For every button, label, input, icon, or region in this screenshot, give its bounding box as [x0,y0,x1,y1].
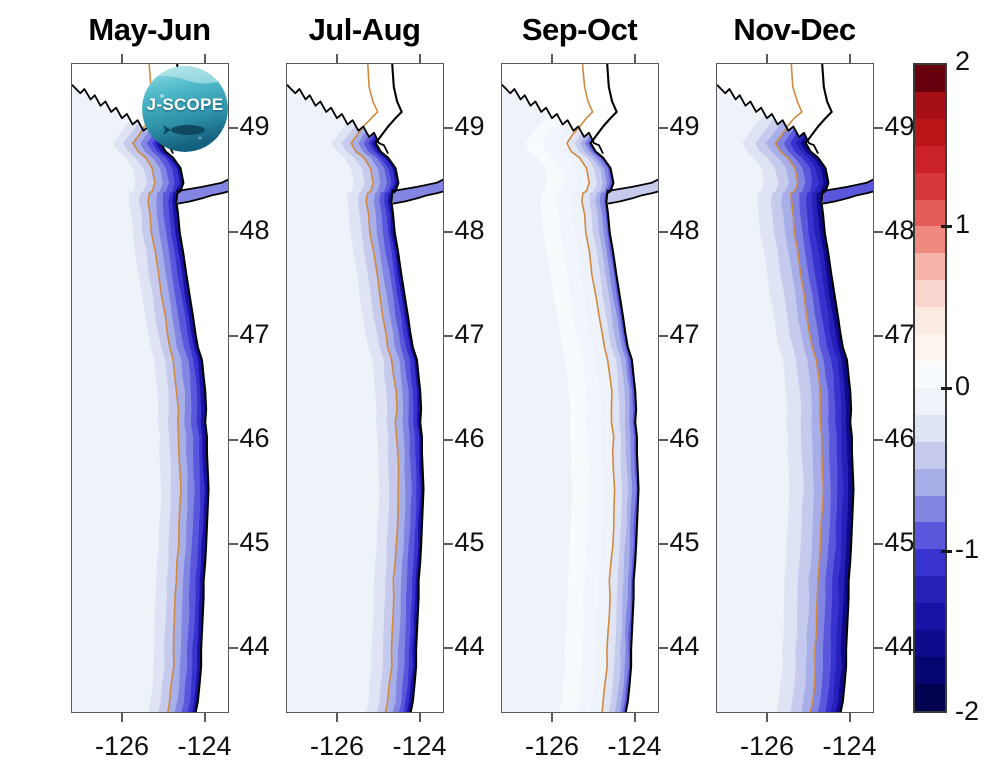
y-tick-mark [874,647,883,649]
x-tick-label-2-1: -124 [585,731,685,762]
colorbar-band-12 [915,388,945,415]
colorbar-band-9 [915,307,945,334]
map-surface [287,64,443,712]
y-tick-mark [229,543,238,545]
y-tick-mark [444,335,453,337]
panel-title-2: Sep-Oct [467,12,693,48]
y-tick-label-3-0: 49 [885,111,915,142]
x-tick-mark [551,713,553,722]
y-tick-label-3-4: 45 [885,527,915,558]
x-tick-mark [419,713,421,722]
y-tick-label-0-4: 45 [240,527,270,558]
colorbar-band-23 [915,684,945,711]
y-tick-label-2-2: 47 [670,319,700,350]
colorbar-tick-label-2: 0 [955,371,970,402]
y-tick-label-1-5: 44 [455,631,485,662]
y-tick-label-1-0: 49 [455,111,485,142]
map-surface [72,64,228,712]
x-tick-mark-top [766,54,768,63]
colorbar-tick-label-4: -2 [955,696,979,727]
y-tick-mark [874,439,883,441]
y-tick-mark [444,231,453,233]
colorbar-band-22 [915,657,945,684]
x-tick-mark-top [551,54,553,63]
y-tick-mark [659,439,668,441]
y-tick-mark [874,127,883,129]
colorbar-band-18 [915,549,945,576]
colorbar-band-10 [915,334,945,361]
colorbar-band-20 [915,603,945,630]
colorbar-band-17 [915,522,945,549]
colorbar-band-5 [915,200,945,227]
y-tick-mark [874,335,883,337]
y-tick-label-2-3: 46 [670,423,700,454]
y-tick-label-0-3: 46 [240,423,270,454]
y-tick-label-3-3: 46 [885,423,915,454]
x-tick-label-0-1: -124 [155,731,255,762]
y-tick-mark [444,439,453,441]
colorbar-tick-label-3: -1 [955,534,979,565]
colorbar-band-21 [915,630,945,657]
y-tick-label-1-1: 48 [455,215,485,246]
y-tick-mark [444,647,453,649]
anomaly-field [717,64,873,712]
colorbar-tick-mark-3 [941,550,952,553]
panel-title-0: May-Jun [37,12,263,48]
map-panel-1[interactable] [286,63,444,713]
x-tick-mark [766,713,768,722]
anomaly-field [287,64,443,712]
colorbar-band-14 [915,442,945,469]
colorbar-band-8 [915,280,945,307]
x-tick-mark [634,713,636,722]
colorbar-band-13 [915,415,945,442]
y-tick-mark [229,231,238,233]
x-tick-mark [121,713,123,722]
y-tick-mark [229,127,238,129]
y-tick-mark [659,231,668,233]
map-panel-0[interactable] [71,63,229,713]
y-tick-label-2-5: 44 [670,631,700,662]
y-tick-label-3-5: 44 [885,631,915,662]
x-tick-mark [849,713,851,722]
y-tick-label-0-2: 47 [240,319,270,350]
map-surface [717,64,873,712]
y-tick-mark [229,647,238,649]
j-scope-logo: J-SCOPE [142,66,228,152]
colorbar-tick-mark-1 [941,225,952,228]
x-tick-mark-top [849,54,851,63]
map-surface [502,64,658,712]
x-tick-mark [204,713,206,722]
x-tick-label-1-1: -124 [370,731,470,762]
x-tick-mark-top [204,54,206,63]
x-tick-label-3-1: -124 [800,731,900,762]
colorbar-band-2 [915,119,945,146]
y-tick-mark [229,439,238,441]
colorbar-band-0 [915,65,945,92]
y-tick-mark [444,127,453,129]
y-tick-label-1-3: 46 [455,423,485,454]
panel-title-1: Jul-Aug [252,12,478,48]
x-tick-mark-top [419,54,421,63]
x-tick-mark-top [336,54,338,63]
colorbar-band-4 [915,173,945,200]
colorbar-tick-mark-2 [941,387,952,390]
logo-text: J-SCOPE [142,95,228,115]
colorbar-tick-label-1: 1 [955,209,970,240]
y-tick-label-0-5: 44 [240,631,270,662]
y-tick-mark [229,335,238,337]
colorbar-band-3 [915,146,945,173]
y-tick-label-2-1: 48 [670,215,700,246]
x-tick-mark-top [121,54,123,63]
anomaly-field [72,64,228,712]
y-tick-mark [659,127,668,129]
y-tick-label-3-1: 48 [885,215,915,246]
colorbar-band-7 [915,253,945,280]
y-tick-mark [444,543,453,545]
x-tick-mark [336,713,338,722]
y-tick-label-1-4: 45 [455,527,485,558]
map-panel-3[interactable] [716,63,874,713]
colorbar-band-1 [915,92,945,119]
colorbar-band-15 [915,469,945,496]
y-tick-label-2-0: 49 [670,111,700,142]
anomaly-field [502,64,658,712]
y-tick-label-0-1: 48 [240,215,270,246]
y-tick-label-0-0: 49 [240,111,270,142]
colorbar-band-19 [915,576,945,603]
figure-canvas: May-JunJul-AugSep-OctNov-Dec494847464544… [0,0,1000,784]
colorbar-tick-label-0: 2 [955,46,970,77]
colorbar-band-6 [915,226,945,253]
colorbar-band-11 [915,361,945,388]
y-tick-mark [874,231,883,233]
y-tick-mark [659,543,668,545]
map-panel-2[interactable] [501,63,659,713]
y-tick-mark [659,335,668,337]
y-tick-label-1-2: 47 [455,319,485,350]
panel-title-3: Nov-Dec [682,12,908,48]
y-tick-label-3-2: 47 [885,319,915,350]
y-tick-mark [659,647,668,649]
x-tick-mark-top [634,54,636,63]
y-tick-label-2-4: 45 [670,527,700,558]
colorbar-band-16 [915,496,945,523]
y-tick-mark [874,543,883,545]
